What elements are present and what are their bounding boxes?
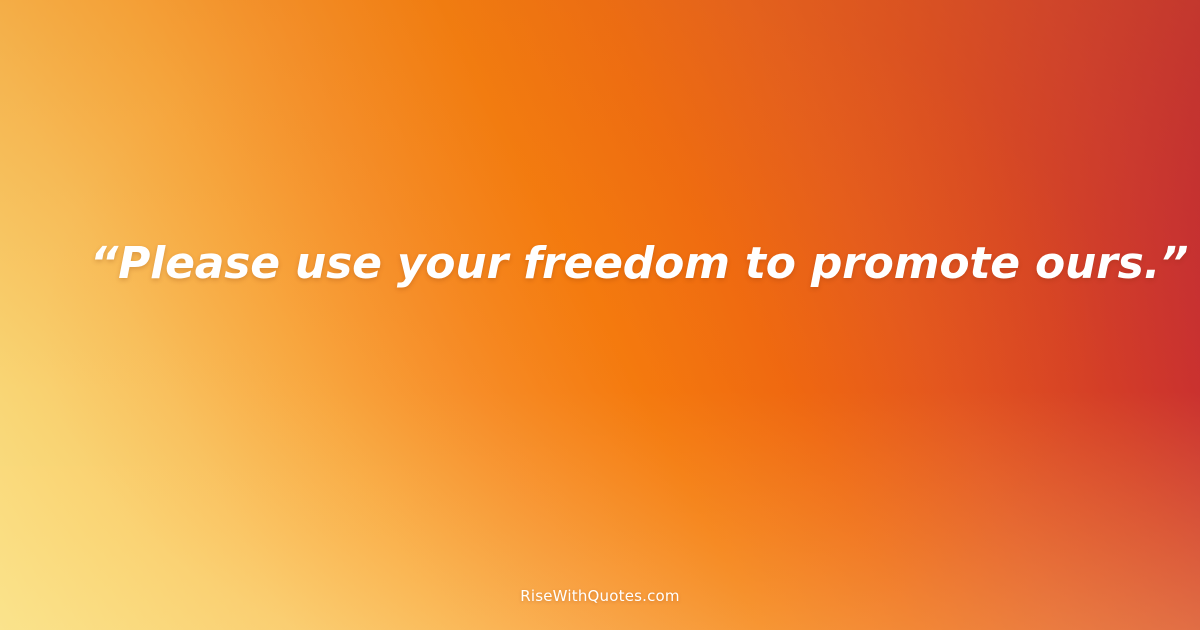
quote-text: “Please use your freedom to promote ours… — [0, 236, 1200, 292]
quote-card: “Please use your freedom to promote ours… — [0, 0, 1200, 630]
card-content: “Please use your freedom to promote ours… — [0, 0, 1200, 630]
site-credit-text: RiseWithQuotes.com — [0, 587, 1200, 605]
